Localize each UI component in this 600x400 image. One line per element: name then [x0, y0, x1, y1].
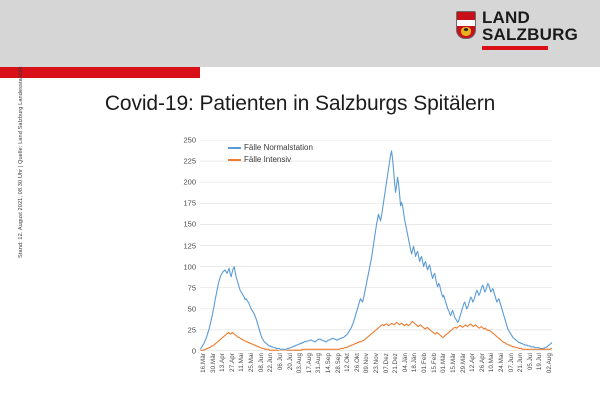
x-axis-tick-label: 07.Dez: [383, 353, 390, 373]
x-axis-tick-label: 12.Apr: [469, 353, 476, 372]
logo-line-land: LAND: [482, 9, 578, 26]
x-axis-tick-label: 16.Mär: [200, 353, 207, 373]
x-axis-tick-label: 14.Sep: [325, 353, 332, 373]
x-axis-tick-label: 01.Mär: [440, 353, 447, 373]
x-axis-tick-label: 25.Mai: [248, 353, 255, 372]
x-axis-tick-label: 05.Jul: [527, 353, 534, 370]
land-salzburg-logo: LAND SALZBURG: [456, 9, 578, 50]
x-axis-tick-label: 29.Mär: [460, 353, 467, 373]
x-axis-tick-label: 15.Feb: [431, 353, 438, 373]
legend-color-swatch: [228, 147, 241, 149]
x-axis-tick-label: 26.Apr: [479, 353, 486, 372]
legend-item-label: Fälle Intensiv: [244, 156, 291, 164]
x-axis-tick-label: 03.Aug: [296, 353, 303, 373]
x-axis-tick-label: 24.Mai: [498, 353, 505, 372]
logo-underline: [482, 46, 548, 50]
x-axis-tick-label: 22.Jun: [267, 353, 274, 372]
legend-color-swatch: [228, 159, 241, 161]
page-title: Covid-19: Patienten in Salzburgs Spitäle…: [0, 92, 600, 116]
x-axis-tick-label: 21.Dez: [392, 353, 399, 373]
x-axis-tick-label: 17.Aug: [306, 353, 313, 373]
x-axis-tick-label: 12.Okt: [344, 353, 351, 372]
x-axis-tick-label: 28.Sep: [335, 353, 342, 373]
x-axis-tick-label: 18.Jän: [411, 353, 418, 372]
accent-bar: [0, 67, 200, 78]
x-axis-tick-label: 04.Jän: [402, 353, 409, 372]
x-axis-tick-label: 06.Jul: [277, 353, 284, 370]
y-axis-tick-label: 225: [183, 157, 196, 166]
x-axis-tick-label: 27.Apr: [229, 353, 236, 372]
y-axis-tick-label: 175: [183, 199, 196, 208]
x-axis-tick-label: 01.Feb: [421, 353, 428, 373]
x-axis-tick-label: 19.Jul: [536, 353, 543, 370]
legend-item[interactable]: Fälle Intensiv: [228, 156, 313, 164]
x-axis-tick-label: 10.Mai: [488, 353, 495, 372]
logo-text: LAND SALZBURG: [482, 9, 578, 50]
y-axis-tick-label: 0: [192, 347, 196, 356]
y-axis-tick-label: 100: [183, 262, 196, 271]
x-axis-tick-label: 15.Mär: [450, 353, 457, 373]
salzburg-coat-of-arms-icon: [456, 11, 476, 39]
y-axis-tick-label: 200: [183, 178, 196, 187]
x-axis-tick-label: 26.Okt: [354, 353, 361, 372]
line-chart-svg: [200, 140, 552, 351]
chart-container: 0255075100125150175200225250 Fälle Norma…: [162, 134, 562, 394]
y-axis-tick-label: 25: [188, 325, 196, 334]
x-axis-tick-label: 21.Jun: [517, 353, 524, 372]
series-line-intensiv: [200, 321, 552, 351]
y-axis-tick-label: 150: [183, 220, 196, 229]
x-axis-tick-label: 20.Jul: [287, 353, 294, 370]
x-axis-tick-label: 02.Aug: [546, 353, 553, 373]
legend-item-label: Fälle Normalstation: [244, 144, 313, 152]
x-axis-tick-label: 31.Aug: [315, 353, 322, 373]
x-axis-tick-label: 08.Jun: [258, 353, 265, 372]
y-axis-tick-label: 50: [188, 304, 196, 313]
legend-item[interactable]: Fälle Normalstation: [228, 144, 313, 152]
gridlines: [200, 140, 552, 351]
y-axis-tick-label: 250: [183, 136, 196, 145]
x-axis-tick-label: 30.Mär: [210, 353, 217, 373]
x-axis-labels: 16.Mär30.Mär13.Apr27.Apr11.Mai25.Mai08.J…: [200, 353, 552, 397]
source-note: Stand: 12. August 2021, 08.30 Uhr | Quel…: [18, 8, 24, 258]
x-axis-tick-label: 13.Apr: [219, 353, 226, 372]
y-axis-tick-label: 75: [188, 283, 196, 292]
plot-area: 0255075100125150175200225250: [200, 140, 552, 351]
source-note-container: Stand: 12. August 2021, 08.30 Uhr | Quel…: [10, 130, 26, 380]
chart-legend: Fälle NormalstationFälle Intensiv: [228, 144, 313, 168]
series-line-normalstation: [200, 151, 552, 349]
x-axis-tick-label: 09.Nov: [363, 353, 370, 373]
y-axis-tick-label: 125: [183, 241, 196, 250]
x-axis-tick-label: 07.Jun: [508, 353, 515, 372]
logo-line-salzburg: SALZBURG: [482, 26, 578, 43]
x-axis-tick-label: 11.Mai: [238, 353, 245, 372]
x-axis-tick-label: 23.Nov: [373, 353, 380, 373]
